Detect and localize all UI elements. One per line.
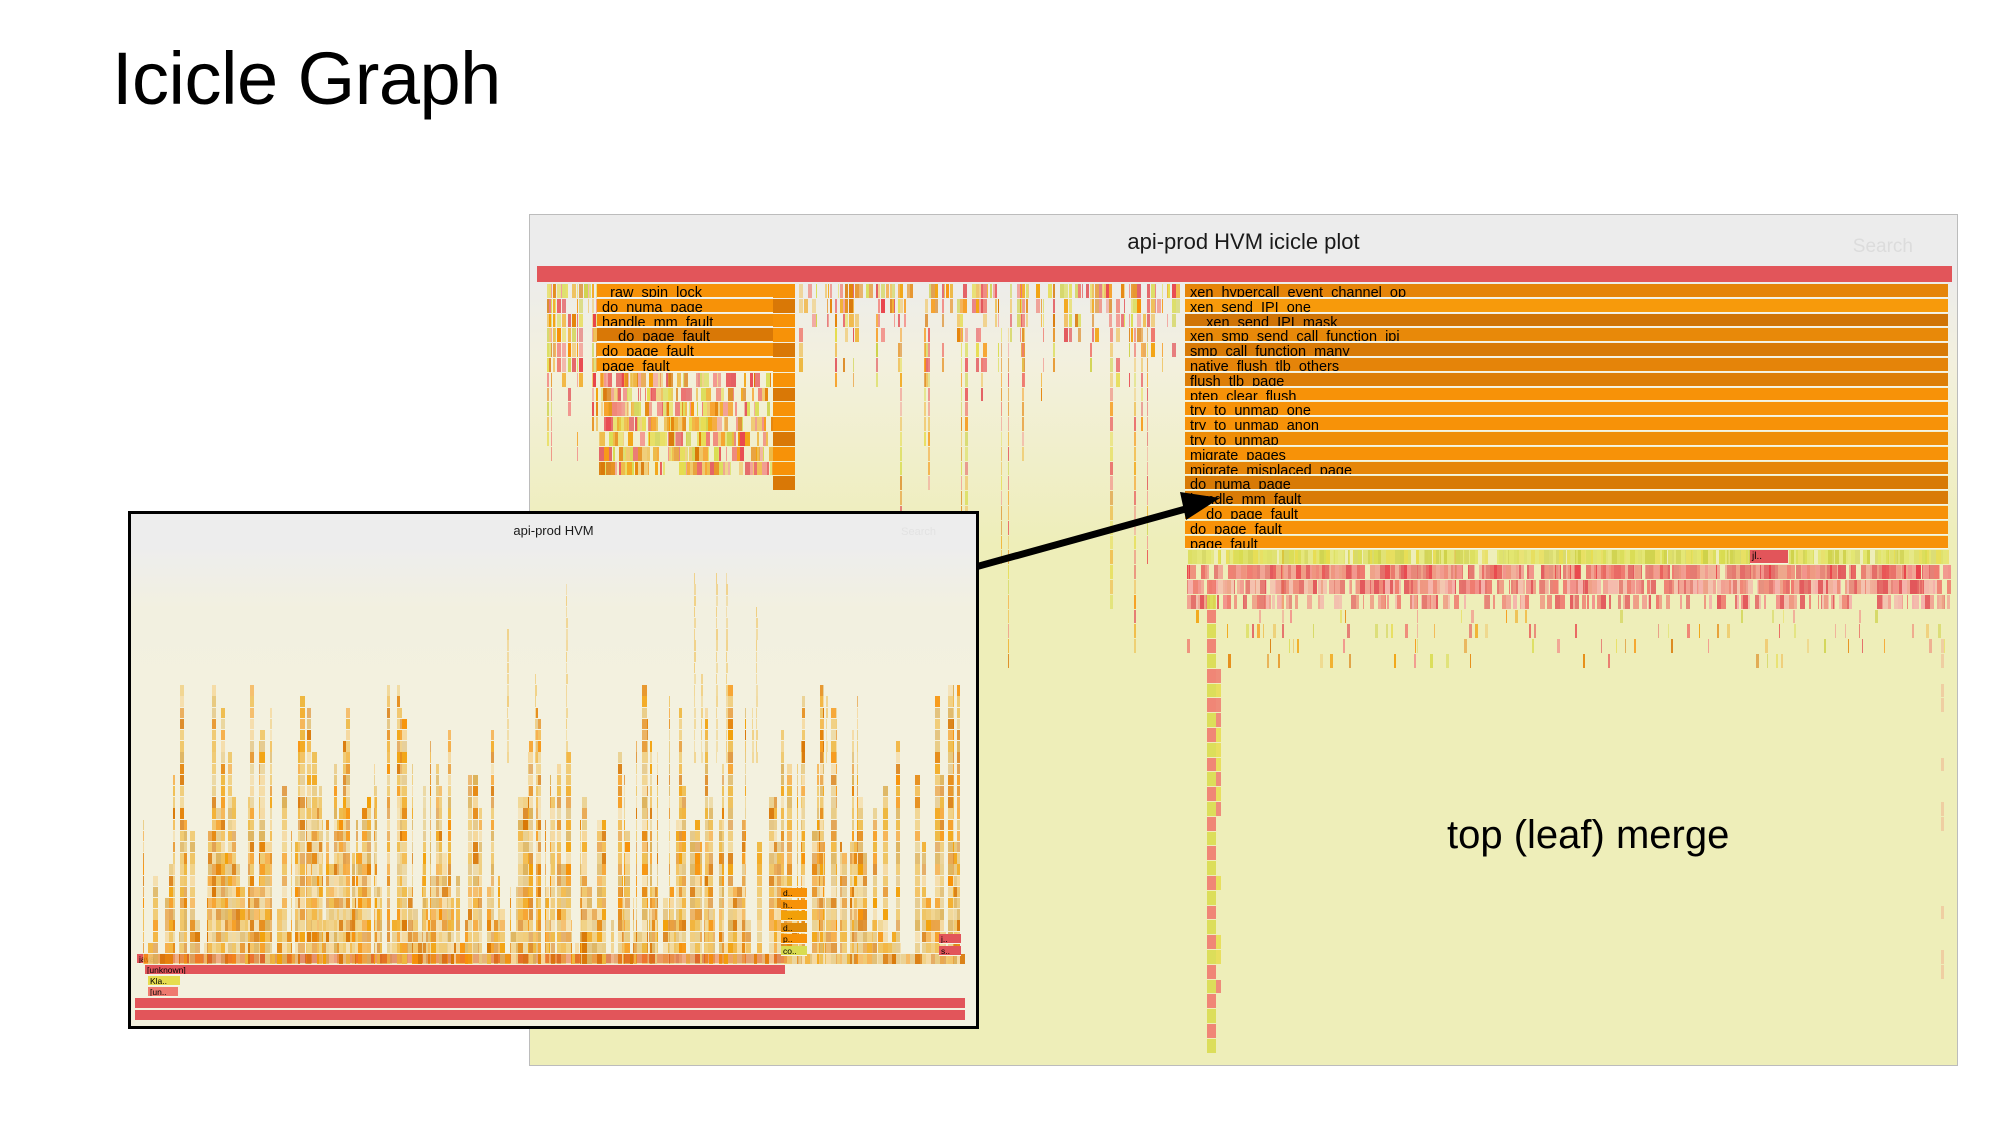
inset-flame-cell[interactable] [636, 864, 637, 874]
flame-cell[interactable] [1293, 639, 1294, 653]
inset-flame-cell[interactable] [402, 909, 407, 919]
flame-cell[interactable] [1587, 595, 1589, 609]
inset-flame-cell[interactable] [300, 764, 305, 774]
flame-cell[interactable] [845, 284, 848, 298]
inset-flame-cell[interactable] [430, 764, 431, 774]
flame-cell[interactable] [894, 299, 895, 313]
inset-flame-cell[interactable] [802, 741, 805, 751]
flame-cell[interactable] [677, 373, 681, 387]
inset-flame-cell[interactable] [300, 696, 305, 706]
flame-cell[interactable] [1147, 417, 1148, 431]
flame-cell[interactable] [1110, 491, 1113, 505]
flame-cell[interactable] [1414, 654, 1416, 668]
flame-cell[interactable] [894, 284, 895, 298]
flame-cell[interactable] [1134, 521, 1136, 535]
inset-flame-cell[interactable] [823, 708, 824, 718]
flame-cell[interactable] [855, 328, 859, 342]
flame-cell[interactable] [983, 314, 987, 328]
flame-cell[interactable] [1207, 950, 1216, 964]
inset-flame-cell[interactable] [228, 786, 232, 796]
inset-flame-cell[interactable] [836, 876, 837, 886]
inset-flame-cell[interactable] [538, 831, 541, 841]
flame-cell[interactable] [1134, 388, 1136, 402]
flame-cell[interactable] [1278, 654, 1280, 668]
inset-flame-cell[interactable] [473, 842, 478, 852]
inset-flame-cell[interactable] [679, 752, 682, 762]
flame-cell[interactable] [998, 358, 999, 372]
flame-cell[interactable] [1147, 314, 1150, 328]
inset-flame-cell[interactable] [817, 808, 819, 818]
inset-flame-cell[interactable] [412, 786, 413, 796]
inset-flame-cell[interactable] [842, 943, 847, 953]
inset-flame-cell[interactable] [873, 920, 877, 930]
flame-cell[interactable] [696, 388, 698, 402]
inset-flame-cell[interactable] [307, 752, 311, 762]
flame-cell[interactable] [551, 343, 552, 357]
inset-flame-cell[interactable] [873, 876, 877, 886]
inset-flame-cell[interactable] [852, 775, 854, 785]
inset-flame-cell[interactable] [647, 719, 648, 729]
inset-flame-cell[interactable] [625, 887, 630, 897]
inset-search-input[interactable]: Search [901, 526, 936, 538]
flame-cell[interactable] [1848, 639, 1849, 653]
inset-flame-cell[interactable] [625, 853, 630, 863]
flame-cell[interactable] [1216, 787, 1221, 801]
inset-flame-cell[interactable] [397, 696, 400, 706]
inset-flame-cell[interactable] [442, 876, 447, 886]
flame-cell[interactable] [1008, 654, 1009, 668]
flame-cell[interactable] [1217, 595, 1219, 609]
inset-flame-cell[interactable] [352, 876, 355, 886]
flame-cell[interactable] [1001, 343, 1002, 357]
flame-cell[interactable] [1207, 1009, 1216, 1023]
flame-cell[interactable] [1207, 698, 1216, 712]
flame-cell[interactable] [1110, 447, 1113, 461]
inset-flame-cell[interactable] [817, 797, 819, 807]
flame-cell[interactable] [1464, 595, 1466, 609]
flame-cell[interactable] [1147, 550, 1148, 564]
inset-flame-cell[interactable] [184, 820, 187, 830]
inset-flame-cell[interactable] [423, 820, 426, 830]
inset-flame-cell[interactable] [439, 842, 442, 852]
inset-flame-cell[interactable] [312, 775, 317, 785]
flame-cell[interactable] [1840, 580, 1841, 594]
flame-cell[interactable] [898, 314, 900, 328]
inset-flame-cell[interactable] [260, 775, 265, 785]
flame-cell[interactable] [1141, 358, 1143, 372]
inset-flame-cell[interactable] [334, 786, 337, 796]
flame-cell[interactable] [1036, 299, 1040, 313]
flame-cell[interactable] [773, 284, 795, 298]
inset-flame-cell[interactable] [915, 786, 920, 796]
inset-flame-cell[interactable] [636, 752, 637, 762]
flame-cell[interactable] [961, 432, 962, 446]
flame-cell[interactable] [551, 299, 552, 313]
inset-flame-cell[interactable] [270, 898, 272, 908]
flame-cell[interactable] [577, 314, 578, 328]
flame-cell[interactable] [1143, 314, 1146, 328]
inset-flame-cell[interactable] [857, 775, 858, 785]
flame-cell[interactable] [743, 388, 746, 402]
inset-flame-cell[interactable] [557, 797, 561, 807]
flame-cell[interactable] [1001, 506, 1002, 520]
flame-cell[interactable] [990, 284, 992, 298]
flame-cell[interactable] [1001, 521, 1002, 535]
inset-flame-cell[interactable] [510, 909, 511, 919]
inset-flame-cell[interactable] [387, 864, 390, 874]
inset-flame-cell[interactable] [745, 730, 746, 740]
inset-flame-cell[interactable] [883, 842, 888, 852]
flame-frame[interactable]: page_fault [1185, 536, 1948, 550]
flame-cell[interactable] [1129, 284, 1130, 298]
inset-flame-cell[interactable] [883, 932, 888, 942]
inset-flame-cell[interactable] [387, 853, 390, 863]
flame-cell[interactable] [1289, 639, 1290, 653]
flame-cell[interactable] [1110, 536, 1113, 550]
flame-cell[interactable] [1506, 610, 1507, 624]
flame-cell[interactable] [961, 476, 962, 490]
inset-flame-cell[interactable] [291, 943, 292, 953]
flame-cell[interactable] [1008, 550, 1009, 564]
inset-flame-cell[interactable] [387, 842, 390, 852]
inset-flame-cell[interactable] [670, 887, 674, 897]
flame-cell[interactable] [730, 462, 731, 476]
inset-flame-cell[interactable] [551, 831, 555, 841]
inset-flame-cell[interactable] [636, 842, 637, 852]
flame-cell[interactable] [1540, 595, 1545, 609]
flame-cell[interactable] [1228, 654, 1231, 668]
flame-cell[interactable] [1116, 358, 1120, 372]
flame-cell[interactable] [853, 328, 854, 342]
flame-cell[interactable] [1385, 595, 1386, 609]
flame-cell[interactable] [878, 299, 880, 313]
inset-flame-cell[interactable] [143, 920, 144, 930]
inset-flame-cell[interactable] [551, 943, 555, 953]
inset-flame-cell[interactable] [745, 764, 746, 774]
flame-cell[interactable] [1001, 402, 1002, 416]
flame-cell[interactable] [1824, 639, 1826, 653]
flame-cell[interactable] [601, 402, 603, 416]
flame-cell[interactable] [1699, 624, 1700, 638]
inset-flame-cell[interactable] [682, 909, 686, 919]
inset-flame-cell[interactable] [852, 741, 854, 751]
inset-flame-cell[interactable] [387, 752, 390, 762]
inset-flame-cell[interactable] [430, 752, 431, 762]
inset-flame-cell[interactable] [745, 808, 746, 818]
inset-flame-cell[interactable] [625, 831, 630, 841]
inset-flame-cell[interactable] [774, 831, 777, 841]
inset-flame-cell[interactable] [387, 932, 390, 942]
inset-flame-cell[interactable] [326, 820, 329, 830]
flame-cell[interactable] [963, 284, 967, 298]
inset-flame-cell[interactable] [873, 887, 877, 897]
inset-flame-cell[interactable] [322, 842, 323, 852]
inset-flame-cell[interactable] [757, 932, 762, 942]
inset-flame-cell[interactable] [802, 730, 805, 740]
flame-cell[interactable] [1099, 299, 1102, 313]
flame-cell[interactable] [1207, 965, 1216, 979]
inset-flame-cell[interactable] [300, 786, 305, 796]
inset-flame-cell[interactable] [836, 864, 837, 874]
flame-cell[interactable] [1134, 373, 1136, 387]
flame-cell[interactable] [1474, 565, 1475, 579]
inset-flame-cell[interactable] [863, 876, 867, 886]
flame-cell[interactable] [1008, 358, 1009, 372]
flame-cell[interactable] [1563, 550, 1566, 564]
inset-flame-cell[interactable] [915, 831, 920, 841]
inset-flame-cell[interactable] [618, 786, 622, 796]
inset-flame-cell[interactable] [250, 719, 254, 729]
inset-flame-cell[interactable] [618, 820, 622, 830]
inset-flame-cell[interactable] [221, 752, 225, 762]
flame-cell[interactable] [1862, 639, 1863, 653]
inset-flame-cell[interactable] [387, 685, 390, 695]
inset-flame-cell[interactable] [551, 842, 555, 852]
inset-flame-cell[interactable] [551, 876, 555, 886]
inset-plot-canvas[interactable]: [un..Kla..[unknown]javad..h.._..d..p..co… [135, 544, 975, 1026]
flame-cell[interactable] [755, 373, 760, 387]
flame-cell[interactable] [579, 314, 583, 328]
flame-cell[interactable] [1143, 343, 1146, 357]
inset-flame-cell[interactable] [915, 797, 920, 807]
inset-flame-cell[interactable] [705, 708, 708, 718]
inset-flame-cell[interactable] [180, 752, 184, 762]
flame-cell[interactable] [1227, 624, 1228, 638]
inset-flame-cell[interactable] [883, 864, 888, 874]
flame-cell[interactable] [1092, 314, 1094, 328]
flame-cell[interactable] [1560, 565, 1561, 579]
inset-flame-cell[interactable] [180, 685, 184, 695]
flame-cell[interactable] [1022, 402, 1024, 416]
inset-flame-cell[interactable] [346, 708, 350, 718]
inset-flame-cell[interactable] [709, 898, 713, 908]
inset-flame-cell[interactable] [538, 920, 541, 930]
inset-flame-cell[interactable] [722, 920, 724, 930]
inset-flame-cell[interactable] [184, 876, 187, 886]
inset-flame-cell[interactable] [823, 764, 824, 774]
flame-cell[interactable] [1110, 521, 1113, 535]
inset-flame-cell[interactable] [625, 842, 630, 852]
inset-flame-cell[interactable] [221, 786, 225, 796]
flame-cell[interactable] [976, 358, 979, 372]
inset-flame-cell[interactable] [529, 808, 533, 818]
flame-cell[interactable] [1939, 565, 1940, 579]
flame-cell[interactable] [900, 402, 902, 416]
flame-cell[interactable] [649, 402, 652, 416]
inset-flame-cell[interactable] [611, 932, 614, 942]
flame-cell[interactable] [642, 417, 646, 431]
flame-cell[interactable] [1781, 654, 1783, 668]
inset-flame-cell[interactable] [915, 842, 920, 852]
flame-cell[interactable] [1659, 595, 1662, 609]
inset-flame-cell[interactable] [618, 797, 622, 807]
flame-cell[interactable] [1941, 758, 1944, 772]
inset-flame-cell[interactable] [412, 842, 413, 852]
inset-flame-cell[interactable] [836, 775, 837, 785]
inset-flame-cell[interactable] [636, 898, 637, 908]
inset-flame-cell[interactable] [538, 741, 541, 751]
flame-cell[interactable] [577, 358, 578, 372]
inset-flame-cell[interactable] [802, 876, 805, 886]
flame-cell[interactable] [579, 284, 583, 298]
inset-flame-cell[interactable] [679, 764, 682, 774]
flame-cell[interactable] [1207, 802, 1216, 816]
inset-flame-cell[interactable] [180, 797, 184, 807]
flame-cell[interactable] [1608, 654, 1610, 668]
flame-cell[interactable] [1010, 299, 1012, 313]
inset-root-frame[interactable] [135, 998, 965, 1008]
inset-flame-cell[interactable] [745, 797, 746, 807]
flame-cell[interactable] [1548, 580, 1549, 594]
flame-cell[interactable] [1464, 639, 1467, 653]
inset-flame-cell[interactable] [722, 820, 724, 830]
inset-flame-cell[interactable] [468, 920, 472, 930]
inset-flame-cell[interactable] [802, 719, 805, 729]
flame-cell[interactable] [1525, 610, 1527, 624]
flame-cell[interactable] [998, 343, 999, 357]
flame-cell[interactable] [1469, 624, 1472, 638]
flame-cell[interactable] [614, 388, 618, 402]
flame-cell[interactable] [1124, 314, 1125, 328]
inset-flame-cell[interactable] [669, 775, 670, 785]
inset-flame-cell[interactable] [618, 764, 622, 774]
flame-cell[interactable] [981, 388, 983, 402]
flame-cell[interactable] [983, 343, 987, 357]
inset-flame-cell[interactable] [842, 932, 847, 942]
inset-flame-cell[interactable] [529, 786, 533, 796]
flame-cell[interactable] [1207, 610, 1216, 624]
inset-flame-cell[interactable] [695, 831, 700, 841]
inset-flame-cell[interactable] [190, 876, 195, 886]
flame-cell[interactable] [1941, 684, 1944, 698]
inset-flame-cell[interactable] [624, 775, 625, 785]
inset-flame-cell[interactable] [823, 741, 824, 751]
inset-flame-cell[interactable] [722, 909, 724, 919]
flame-cell[interactable] [1141, 402, 1143, 416]
flame-cell[interactable] [1234, 580, 1235, 594]
flame-cell[interactable] [983, 299, 987, 313]
inset-flame-cell[interactable] [423, 842, 426, 852]
inset-flame-cell[interactable] [705, 808, 708, 818]
inset-flame-cell[interactable] [322, 909, 323, 919]
inset-flame-cell[interactable] [722, 831, 724, 841]
inset-flame-cell[interactable] [538, 752, 541, 762]
inset-flame-cell[interactable] [270, 808, 272, 818]
inset-flame-cell[interactable] [291, 898, 292, 908]
inset-flame-cell[interactable] [915, 853, 920, 863]
inset-flame-cell[interactable] [745, 887, 746, 897]
inset-flame-cell[interactable] [375, 864, 377, 874]
flame-cell[interactable] [1216, 950, 1221, 964]
flame-cell[interactable] [1772, 610, 1774, 624]
inset-flame-cell[interactable] [647, 786, 648, 796]
inset-flame-cell[interactable] [873, 943, 877, 953]
inset-flame-cell[interactable] [883, 797, 888, 807]
flame-cell[interactable] [1207, 920, 1216, 934]
inset-flame-cell[interactable] [709, 887, 713, 897]
inset-flame-cell[interactable] [143, 853, 144, 863]
flame-cell[interactable] [1658, 624, 1659, 638]
flame-cell[interactable] [572, 314, 576, 328]
inset-flame-cell[interactable] [566, 909, 571, 919]
flame-cell[interactable] [1748, 595, 1750, 609]
flame-cell[interactable] [557, 343, 561, 357]
flame-cell[interactable] [655, 462, 658, 476]
inset-flame-cell[interactable] [896, 932, 900, 942]
flame-frame[interactable]: flush_tlb_page [1185, 373, 1948, 387]
inset-flame-cell[interactable] [375, 842, 377, 852]
inset-flame-cell[interactable] [857, 696, 858, 706]
inset-flame-cell[interactable] [236, 864, 240, 874]
inset-flame-cell[interactable] [423, 808, 426, 818]
inset-flame-cell[interactable] [566, 887, 571, 897]
flame-cell[interactable] [1008, 624, 1009, 638]
inset-flame-cell[interactable] [757, 853, 762, 863]
inset-flame-cell[interactable] [491, 730, 494, 740]
flame-cell[interactable] [638, 388, 639, 402]
inset-flame-cell[interactable] [728, 808, 733, 818]
inset-flame-cell[interactable] [682, 943, 686, 953]
inset-flame-cell[interactable] [647, 887, 648, 897]
inset-flame-cell[interactable] [823, 786, 824, 796]
flame-cell[interactable] [1078, 314, 1081, 328]
inset-flame-cell[interactable] [682, 932, 686, 942]
inset-flame-cell[interactable] [387, 730, 390, 740]
inset-flame-cell[interactable] [180, 696, 184, 706]
flame-cell[interactable] [1134, 328, 1136, 342]
inset-flame-cell[interactable] [491, 752, 494, 762]
inset-flame-cell[interactable] [240, 898, 245, 908]
inset-flame-cell[interactable] [319, 797, 322, 807]
inset-flame-cell[interactable] [479, 943, 482, 953]
inset-flame-cell[interactable] [282, 887, 287, 897]
flame-cell[interactable] [547, 417, 549, 431]
inset-flame-cell[interactable] [451, 909, 454, 919]
flame-cell[interactable] [1269, 595, 1271, 609]
inset-flame-cell[interactable] [491, 842, 494, 852]
flame-cell[interactable] [647, 388, 650, 402]
inset-flame-cell[interactable] [184, 932, 187, 942]
flame-cell[interactable] [928, 447, 930, 461]
flame-cell[interactable] [1813, 550, 1814, 564]
flame-cell[interactable] [1207, 980, 1216, 994]
flame-cell[interactable] [1008, 491, 1009, 505]
flame-cell[interactable] [1580, 565, 1581, 579]
inset-flame-cell[interactable] [787, 786, 792, 796]
flame-cell[interactable] [1281, 595, 1284, 609]
inset-flame-cell[interactable] [367, 943, 371, 953]
flame-cell[interactable] [773, 328, 795, 342]
inset-flame-cell[interactable] [858, 820, 863, 830]
inset-flame-cell[interactable] [713, 909, 715, 919]
inset-flame-cell[interactable] [326, 831, 329, 841]
inset-flame-cell[interactable] [551, 887, 555, 897]
inset-flame-cell[interactable] [546, 909, 549, 919]
inset-flame-cell[interactable] [412, 898, 413, 908]
inset-flame-cell[interactable] [479, 831, 482, 841]
flame-cell[interactable] [1001, 447, 1002, 461]
inset-flame-cell[interactable] [307, 797, 311, 807]
flame-cell[interactable] [799, 284, 803, 298]
flame-cell[interactable] [1134, 402, 1136, 416]
flame-cell[interactable] [1533, 580, 1536, 594]
flame-cell[interactable] [1244, 595, 1247, 609]
inset-flame-cell[interactable] [468, 909, 472, 919]
inset-flame-cell[interactable] [722, 898, 724, 908]
flame-cell[interactable] [835, 343, 837, 357]
flame-cell[interactable] [1741, 610, 1743, 624]
inset-flame-cell[interactable] [633, 909, 634, 919]
